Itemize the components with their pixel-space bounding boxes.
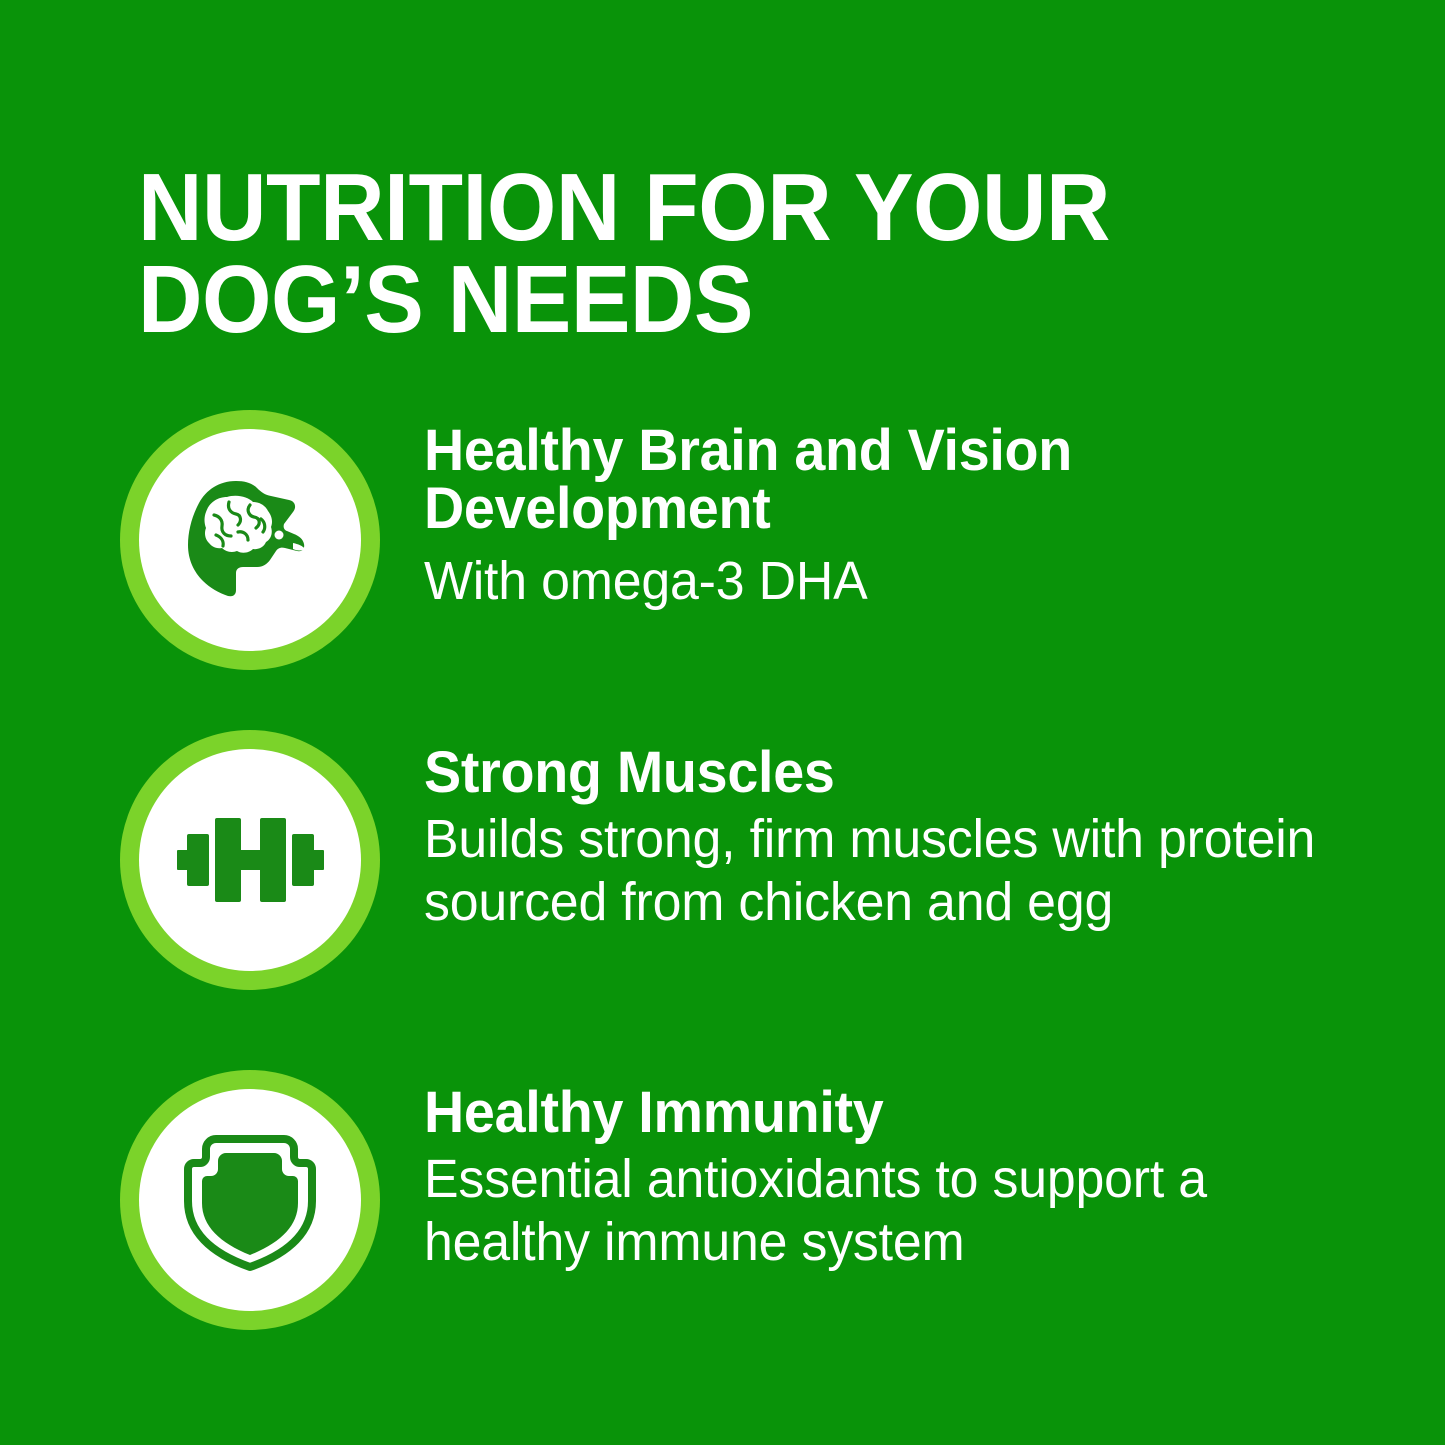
feature-title: Strong Muscles bbox=[424, 744, 1318, 802]
icon-badge-brain-vision bbox=[120, 410, 380, 670]
feature-list: Healthy Brain and Vision Development Wit… bbox=[0, 400, 1445, 1370]
feature-text-healthy-immunity: Healthy Immunity Essential antioxidants … bbox=[380, 1070, 1445, 1274]
dog-head-brain-icon bbox=[175, 475, 325, 605]
feature-description: Essential antioxidants to support a heal… bbox=[424, 1148, 1356, 1274]
feature-text-strong-muscles: Strong Muscles Builds strong, firm muscl… bbox=[380, 730, 1445, 934]
feature-item-healthy-immunity: Healthy Immunity Essential antioxidants … bbox=[0, 1070, 1445, 1370]
feature-text-brain-vision: Healthy Brain and Vision Development Wit… bbox=[380, 400, 1445, 613]
icon-disc bbox=[139, 1089, 361, 1311]
feature-title: Healthy Brain and Vision Development bbox=[424, 422, 1289, 538]
dumbbell-icon bbox=[175, 808, 325, 912]
icon-disc bbox=[139, 749, 361, 971]
feature-description: With omega-3 DHA bbox=[424, 550, 1289, 613]
feature-description: Builds strong, firm muscles with protein… bbox=[424, 808, 1318, 934]
icon-badge-healthy-immunity bbox=[120, 1070, 380, 1330]
icon-disc bbox=[139, 429, 361, 651]
page-title: NUTRITION FOR YOUR DOG’S NEEDS bbox=[138, 162, 1217, 346]
feature-item-brain-vision: Healthy Brain and Vision Development Wit… bbox=[0, 400, 1445, 730]
icon-badge-strong-muscles bbox=[120, 730, 380, 990]
feature-item-strong-muscles: Strong Muscles Builds strong, firm muscl… bbox=[0, 730, 1445, 1070]
shield-icon bbox=[182, 1127, 318, 1273]
nutrition-benefits-panel: NUTRITION FOR YOUR DOG’S NEEDS bbox=[0, 0, 1445, 1445]
feature-title: Healthy Immunity bbox=[424, 1084, 1356, 1142]
